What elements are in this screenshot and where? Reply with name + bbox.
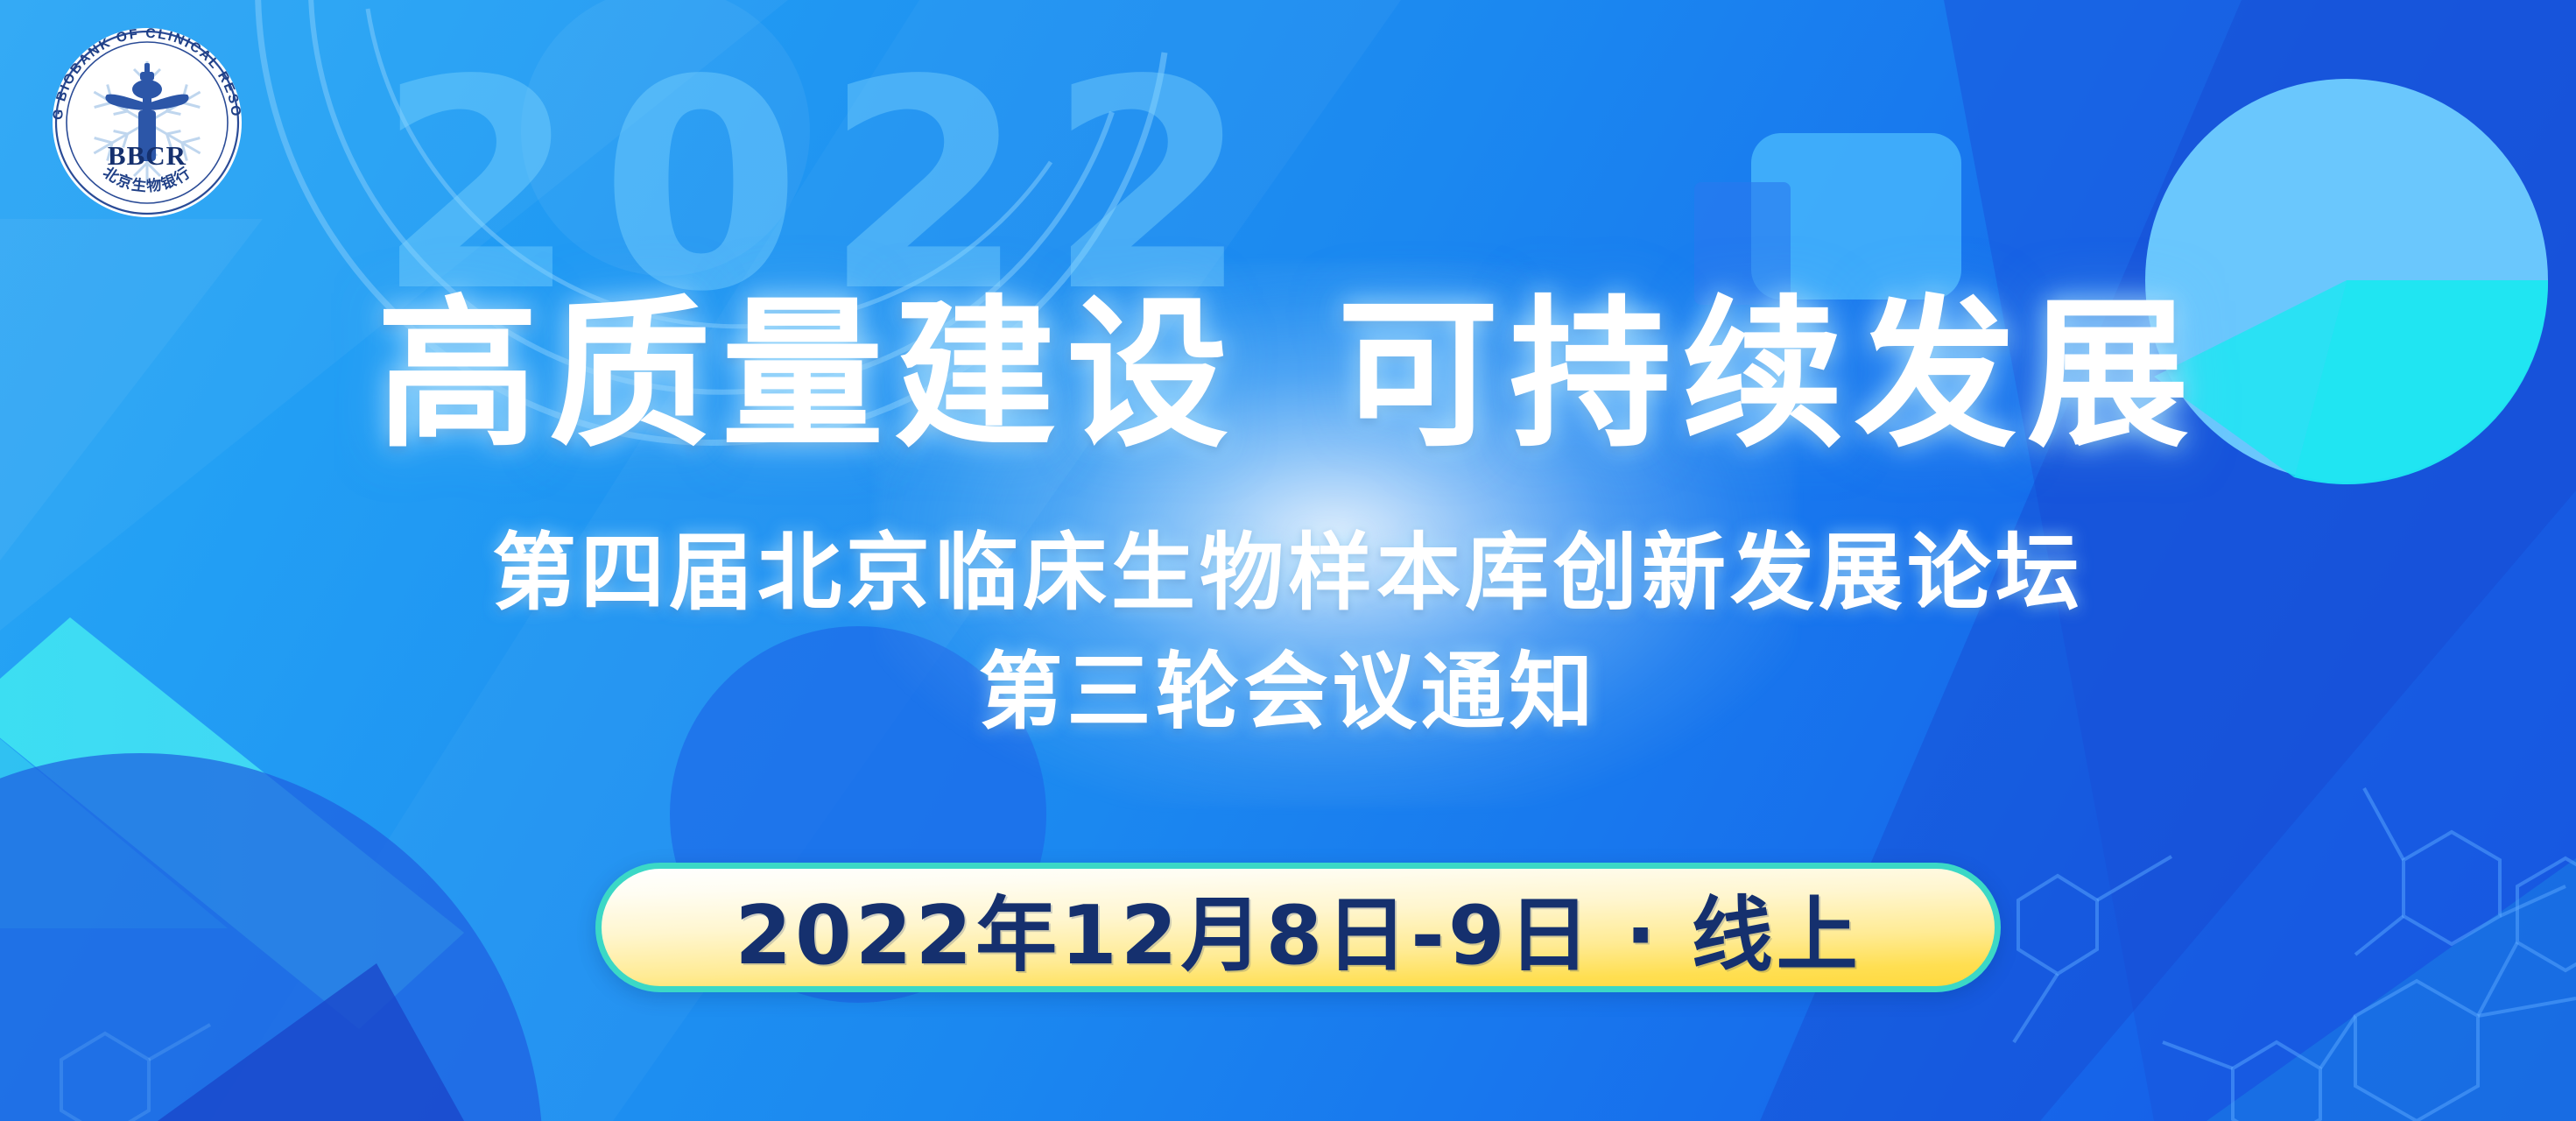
logo-acronym: BBCR bbox=[108, 140, 187, 171]
bbcr-logo: BEIJING BIOBANK OF CLINICAL RESOURCES 北京… bbox=[42, 18, 252, 228]
subtitle-line-1: 第四届北京临床生物样本库创新发展论坛 bbox=[0, 527, 2576, 620]
headline: 高质量建设可持续发展 bbox=[0, 289, 2576, 461]
date-venue-text: 2022年12月8日-9日 · 线上 bbox=[735, 869, 1861, 987]
date-venue-pill: 2022年12月8日-9日 · 线上 bbox=[595, 863, 2001, 992]
headline-part-1: 高质量建设 bbox=[377, 280, 1239, 469]
subtitle-line-2: 第三轮会议通知 bbox=[0, 646, 2576, 739]
headline-part-2: 可持续发展 bbox=[1337, 280, 2199, 469]
conference-banner: 2022 bbox=[0, 0, 2576, 1121]
